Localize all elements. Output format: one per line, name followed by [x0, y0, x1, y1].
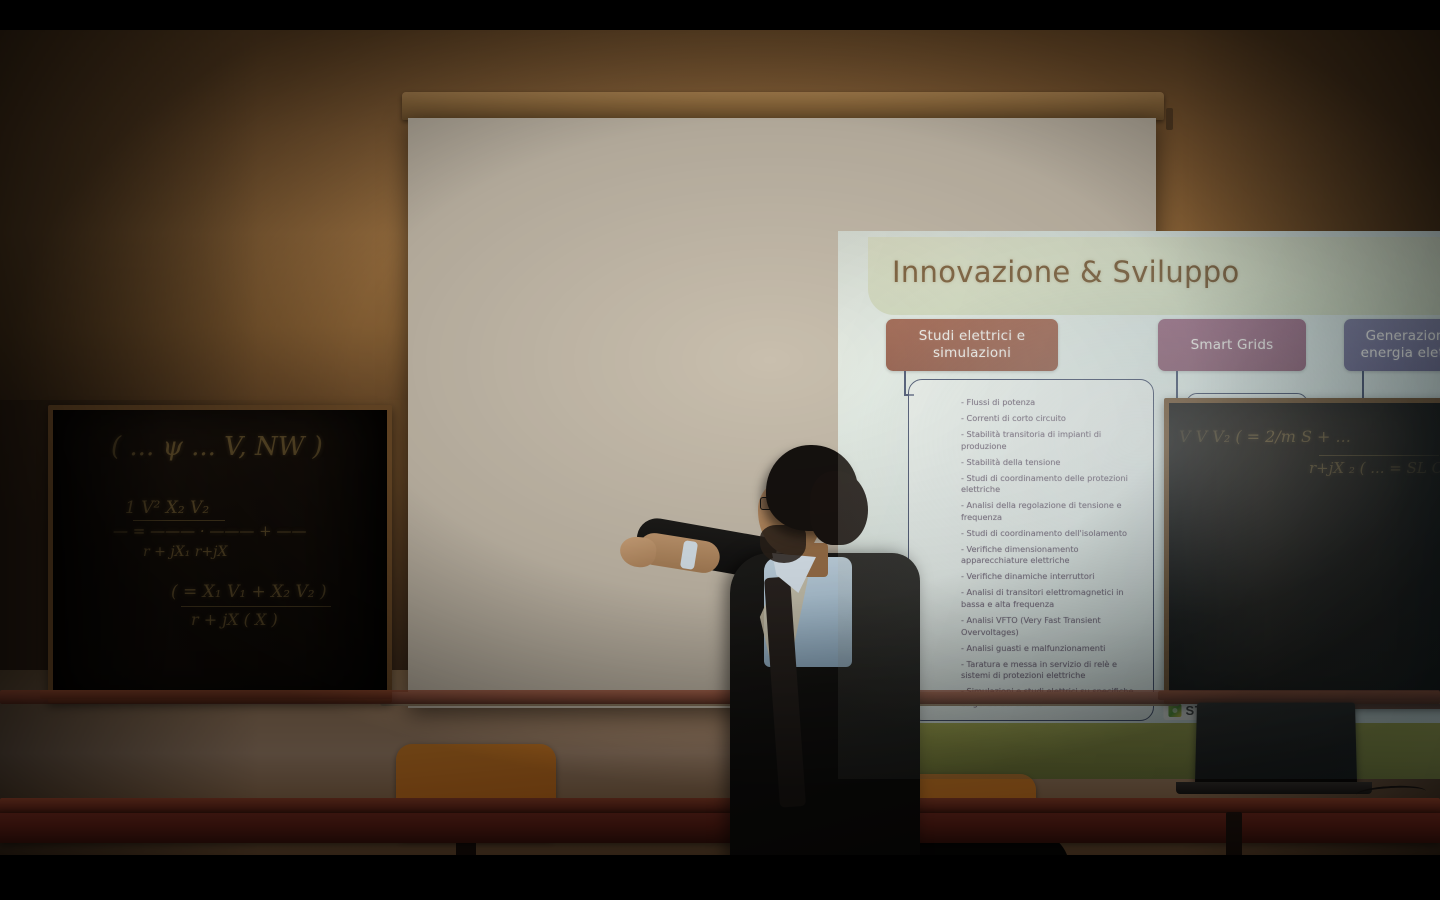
column-header-smart-grids[interactable]: Smart Grids — [1158, 319, 1306, 371]
list-item: - Analisi guasti e malfunzionamenti — [961, 643, 1143, 655]
blackboard-shading — [1169, 403, 1440, 699]
connector-line — [904, 371, 906, 395]
chalk-text: r + jX ( X ) — [191, 610, 278, 629]
left-blackboard: ( ... ψ ... V, NW ) 1 V² X₂ V₂ — = ——— ·… — [48, 405, 392, 703]
list-item: - Studi di coordinamento delle protezion… — [961, 473, 1143, 496]
list-item: - Stabilità della tensione — [961, 457, 1143, 469]
laptop-base[interactable] — [1176, 782, 1372, 794]
chalk-fraction-bar — [1319, 455, 1439, 456]
column-header-studi-elettrici[interactable]: Studi elettrici e simulazioni — [886, 319, 1058, 371]
screen-roller-knob[interactable] — [1166, 108, 1173, 130]
list-item: - Analisi di transitori elettromagnetici… — [961, 587, 1143, 610]
lecture-room: Innovazione & Sviluppo Studi elettrici e… — [0, 30, 1440, 855]
bullet-list-box: - Flussi di potenza - Correnti di corto … — [908, 379, 1154, 721]
list-item: - Analisi VFTO (Very Fast Transient Over… — [961, 615, 1143, 638]
lecture-hall-photo: Innovazione & Sviluppo Studi elettrici e… — [0, 0, 1440, 900]
presenter-beard — [760, 525, 806, 563]
column-generazione-energia: Generazione di energia elettrica — [1344, 319, 1440, 371]
list-item: - Correnti di corto circuito — [961, 413, 1143, 425]
desk-leg — [1226, 812, 1242, 855]
chalk-text: r + jX₁ r+jX — [143, 544, 227, 560]
projector-screen-housing — [402, 92, 1164, 120]
column-smart-grids: Smart Grids — [1158, 319, 1306, 371]
list-item: - Analisi della regolazione di tensione … — [961, 500, 1143, 523]
letterbox-top — [0, 0, 1440, 30]
chalk-text: — = ——— · ——— + —— — [113, 522, 307, 540]
chalk-fraction-bar — [181, 606, 331, 607]
list-item: - Verifiche dinamiche interruttori — [961, 571, 1143, 583]
letterbox-bottom — [0, 855, 1440, 900]
list-item: - Verifiche dimensionamento apparecchiat… — [961, 544, 1143, 567]
chalk-fraction-bar — [133, 520, 225, 521]
chalk-text: V V V₂ ( = 2/m S + ... — [1179, 427, 1351, 446]
list-item: - Stabilità transitoria di impianti di p… — [961, 429, 1143, 452]
list-item: - Taratura e messa in servizio di relè e… — [961, 659, 1143, 682]
presenter-hair-back — [810, 471, 868, 545]
column-studi-elettrici: Studi elettrici e simulazioni — [886, 319, 1058, 371]
bullet-list: - Flussi di potenza - Correnti di corto … — [921, 397, 1143, 714]
laptop-screen[interactable] — [1195, 703, 1357, 785]
chalk-text: ( ... ψ ... V, NW ) — [111, 432, 323, 462]
list-item: - Flussi di potenza — [961, 397, 1143, 409]
chalk-text: 1 V² X₂ V₂ — [125, 498, 209, 518]
slide-title: Innovazione & Sviluppo — [892, 255, 1240, 289]
chalk-text: r+jX ₂ ( ... = SL C ... — [1309, 459, 1440, 477]
presenter — [660, 445, 920, 855]
column-header-generazione-energia[interactable]: Generazione di energia elettrica — [1344, 319, 1440, 371]
chalk-text: ( = X₁ V₁ + X₂ V₂ ) — [171, 582, 327, 602]
list-item: - Studi di coordinamento dell'isolamento — [961, 528, 1143, 540]
right-blackboard: V V V₂ ( = 2/m S + ... r+jX ₂ ( ... = SL… — [1164, 398, 1440, 704]
